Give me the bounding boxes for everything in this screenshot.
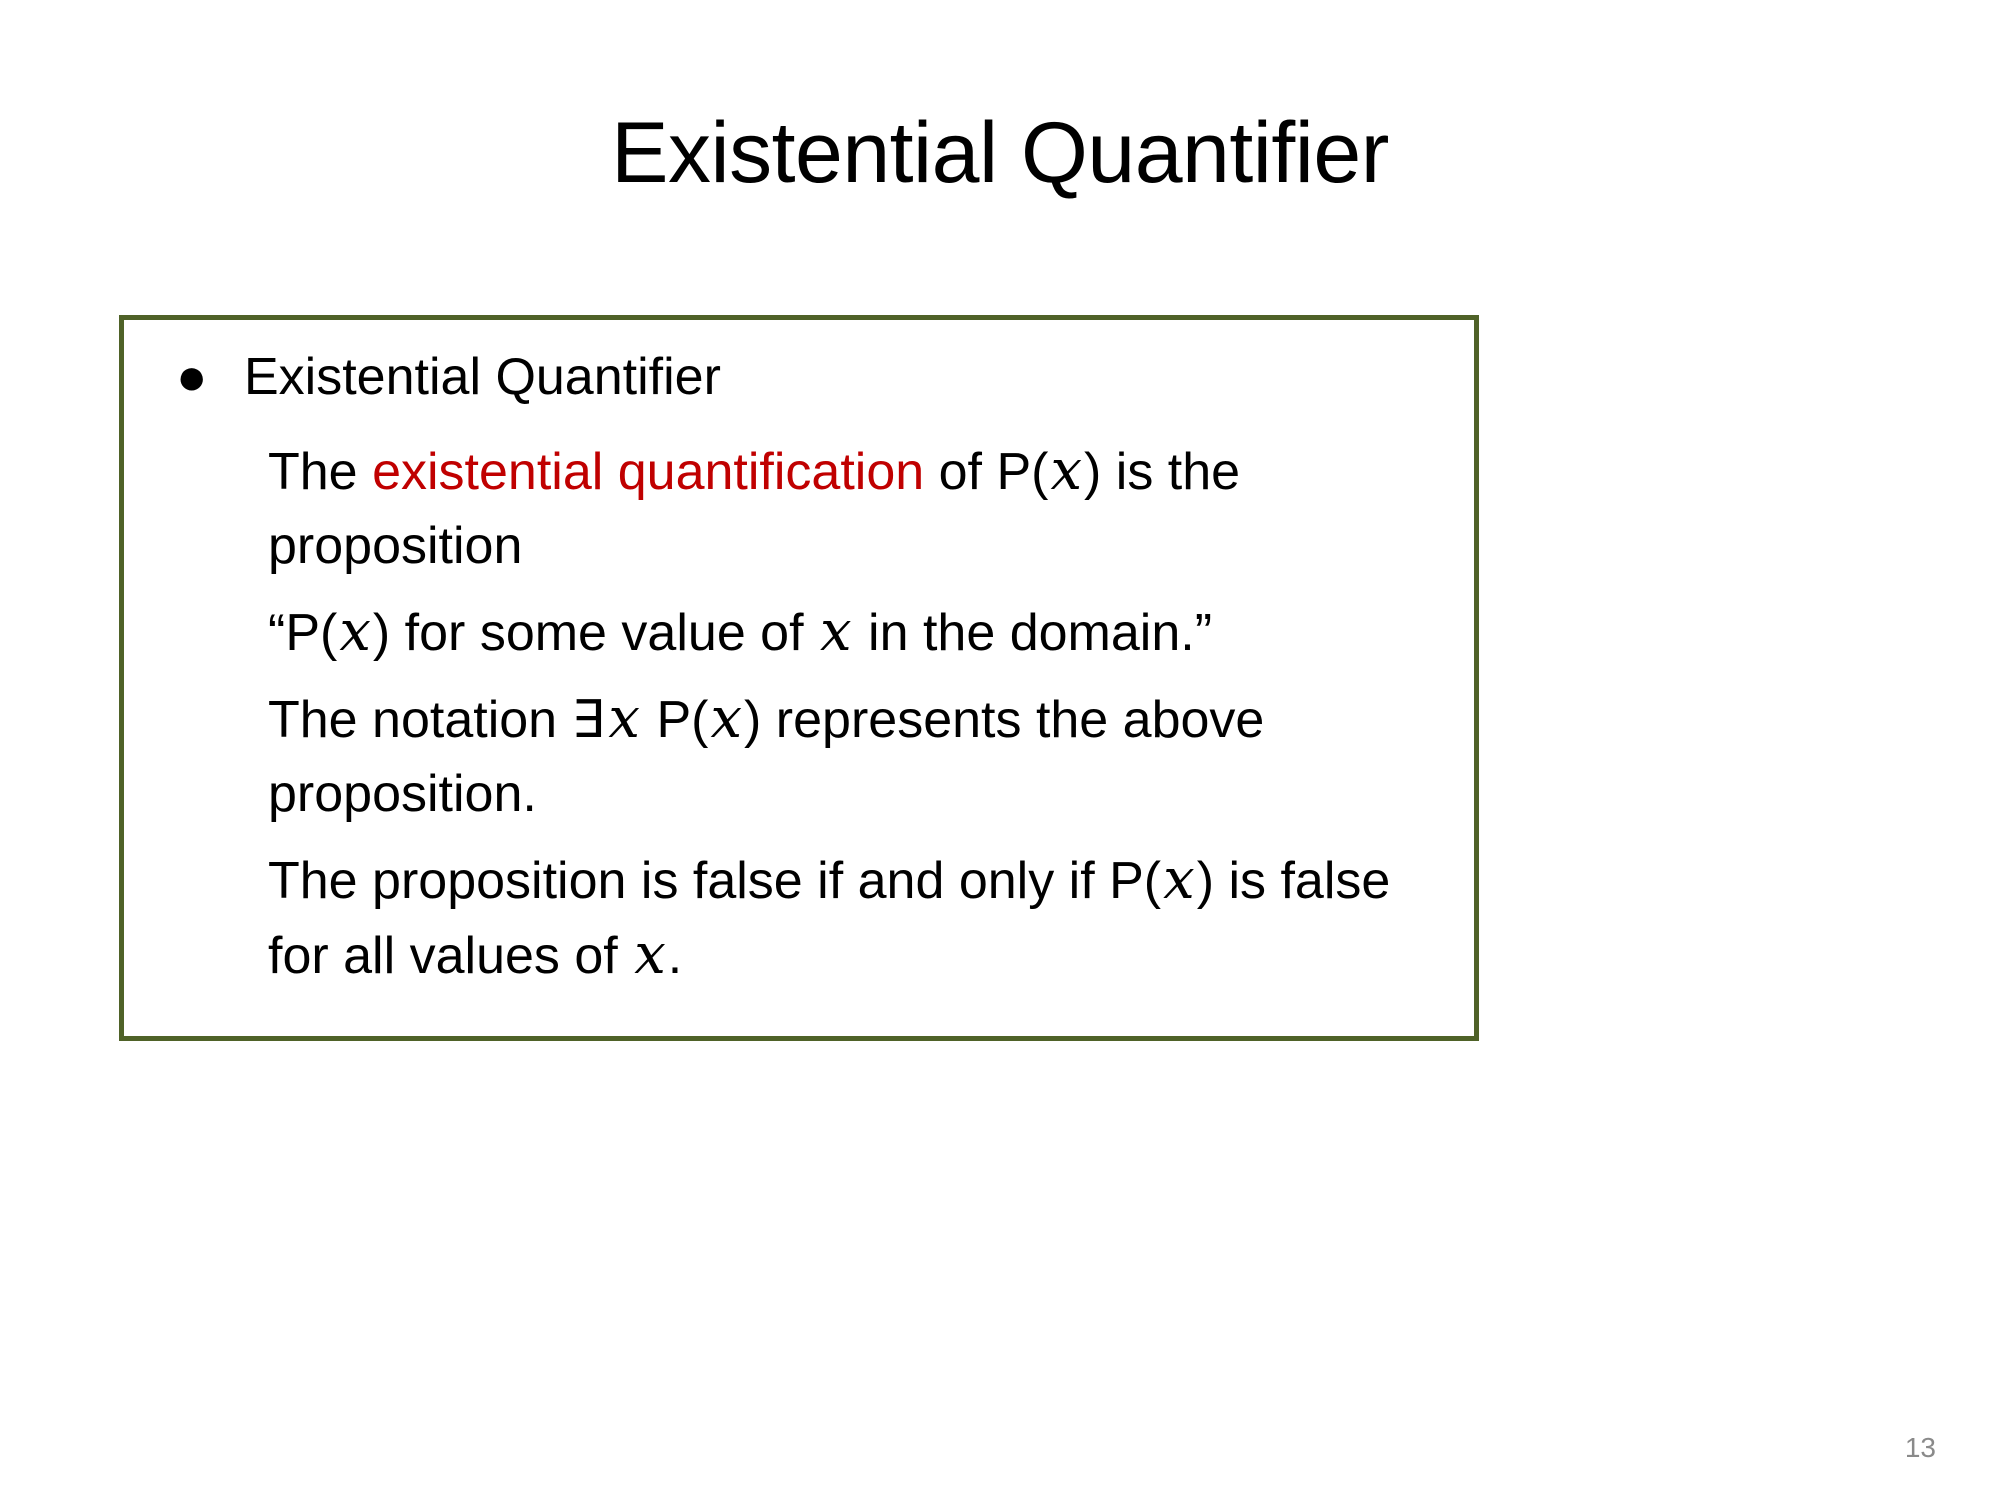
variable-x-icon: x [606,686,642,751]
variable-x-icon: x [337,599,373,664]
quoted-text-tail: in the domain.” [854,604,1212,662]
notation-paragraph: The notation ∃x P(x) represents the abov… [148,682,1454,831]
list-item: ● Existential Quantifier [148,346,1454,408]
definition-highlight: existential quantification [372,443,924,501]
falsity-text-tail: . [668,927,682,985]
exists-quantifier-icon: ∃ [572,690,607,750]
definition-text-lead: The [268,443,372,501]
notation-text-mid: P( [642,691,708,749]
falsity-paragraph: The proposition is false if and only if … [148,843,1454,993]
falsity-text-lead: The proposition is false if and only if … [268,852,1161,910]
content-box: ● Existential Quantifier The existential… [119,315,1479,1041]
slide-canvas: Existential Quantifier ● Existential Qua… [0,0,2000,1500]
page-number: 13 [1905,1432,1936,1464]
variable-x-icon: x [1048,438,1084,503]
variable-x-icon: x [708,686,744,751]
quoted-text-mid: ) for some value of [373,604,818,662]
bullet-icon: ● [148,346,244,408]
variable-x-icon: x [632,922,668,987]
definition-text-mid: of P( [924,443,1048,501]
list-item-label: Existential Quantifier [244,346,1454,408]
content-body: ● Existential Quantifier The existential… [124,320,1474,993]
variable-x-icon: x [1161,847,1197,912]
quoted-text-lead: “P( [268,604,337,662]
page-title: Existential Quantifier [120,108,1880,198]
notation-text-lead: The notation [268,691,572,749]
definition-paragraph: The existential quantification of P(x) i… [148,434,1454,583]
variable-x-icon: x [818,599,854,664]
quoted-reading-paragraph: “P(x) for some value of x in the domain.… [148,595,1454,670]
